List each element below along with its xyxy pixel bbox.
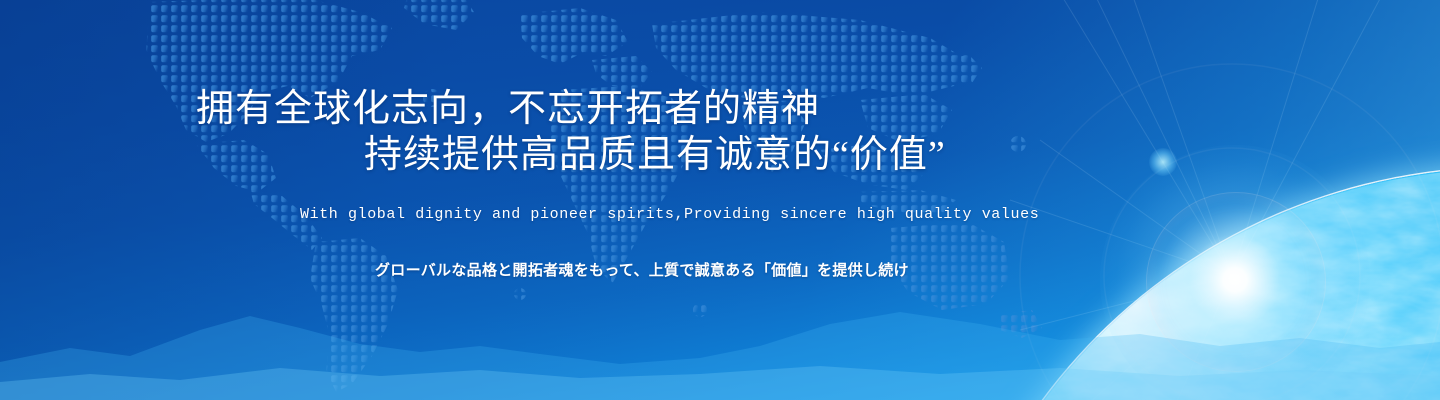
hero-banner: 拥有全球化志向，不忘开拓者的精神 持续提供高品质且有诚意的“价值” With g… (0, 0, 1440, 400)
planet-body (930, 168, 1440, 400)
planet-limb-highlight (930, 168, 1440, 400)
earth-globe-graphic (810, 0, 1440, 400)
